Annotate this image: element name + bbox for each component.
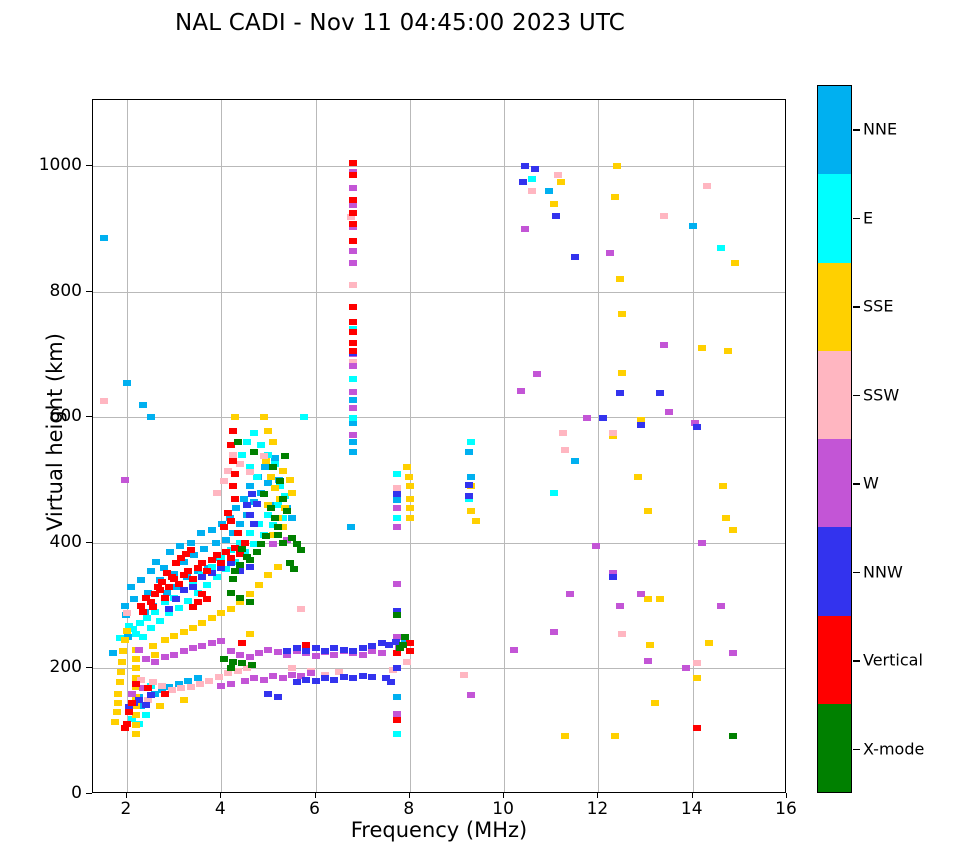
data-point [149, 604, 157, 610]
data-point [156, 703, 164, 709]
data-point [618, 311, 626, 317]
data-point [271, 515, 279, 521]
data-point [347, 524, 355, 530]
data-point [147, 568, 155, 574]
data-point [236, 521, 244, 527]
data-point [279, 496, 287, 502]
data-point [117, 669, 125, 675]
data-point [359, 673, 367, 679]
data-point [550, 629, 558, 635]
data-point [288, 490, 296, 496]
data-point [257, 541, 265, 547]
data-point [467, 508, 475, 514]
data-point [340, 647, 348, 653]
data-point [200, 546, 208, 552]
data-point [158, 683, 166, 689]
data-point [517, 388, 525, 394]
data-point [161, 654, 169, 660]
data-point [234, 668, 242, 674]
data-point [290, 566, 298, 572]
data-point [220, 656, 228, 662]
data-point [467, 474, 475, 480]
data-point [724, 348, 732, 354]
data-point [135, 647, 143, 653]
data-point [472, 518, 480, 524]
data-point [203, 582, 211, 588]
data-point [260, 453, 268, 459]
data-point [184, 568, 192, 574]
data-point [693, 660, 701, 666]
data-point [128, 691, 136, 697]
data-point [118, 659, 126, 665]
data-point [132, 731, 140, 737]
data-point [545, 188, 553, 194]
data-point [114, 700, 122, 706]
data-point [349, 160, 357, 166]
data-point [279, 540, 287, 546]
x-tick-label: 12 [587, 799, 609, 819]
data-point [123, 380, 131, 386]
data-point [248, 491, 256, 497]
data-point [147, 414, 155, 420]
data-point [243, 554, 251, 560]
colorbar-segment-e [818, 174, 851, 262]
data-point [393, 497, 401, 503]
data-point [467, 439, 475, 445]
data-point [349, 405, 357, 411]
y-tick-mark [86, 793, 92, 794]
data-point [349, 439, 357, 445]
colorbar-label-e: E [863, 208, 873, 227]
data-point [330, 677, 338, 683]
data-point [127, 584, 135, 590]
data-point [406, 648, 414, 654]
x-tick-label: 14 [681, 799, 703, 819]
data-point [240, 496, 248, 502]
data-point [151, 652, 159, 658]
data-point [571, 254, 579, 260]
data-point [253, 501, 261, 507]
data-point [307, 670, 315, 676]
data-point [170, 652, 178, 658]
data-point [149, 679, 157, 685]
data-point [519, 179, 527, 185]
data-point [177, 685, 185, 691]
data-point [293, 541, 301, 547]
data-point [227, 606, 235, 612]
data-point [255, 582, 263, 588]
data-point [698, 540, 706, 546]
data-point [229, 428, 237, 434]
data-point [262, 533, 270, 539]
data-point [698, 345, 706, 351]
x-tick-mark [597, 793, 598, 798]
data-point [340, 674, 348, 680]
data-point [276, 478, 284, 484]
data-point [260, 677, 268, 683]
data-point [719, 483, 727, 489]
data-point [203, 568, 211, 574]
data-point [393, 694, 401, 700]
data-point [561, 733, 569, 739]
data-point [300, 414, 308, 420]
data-point [269, 464, 277, 470]
data-point [227, 518, 235, 524]
data-point [349, 397, 357, 403]
data-point [349, 172, 357, 178]
data-point [349, 248, 357, 254]
data-point [168, 574, 176, 580]
data-point [203, 596, 211, 602]
data-point [406, 505, 414, 511]
data-point [349, 304, 357, 310]
data-point [168, 687, 176, 693]
x-tick-mark [315, 793, 316, 798]
data-point [264, 572, 272, 578]
data-point [293, 679, 301, 685]
colorbar-label-nne: NNE [863, 120, 897, 139]
data-point [142, 712, 150, 718]
data-point [665, 409, 673, 415]
data-point [349, 449, 357, 455]
data-point [100, 235, 108, 241]
data-point [253, 549, 261, 555]
data-point [234, 530, 242, 536]
data-point [116, 679, 124, 685]
data-point [154, 584, 162, 590]
data-point [187, 547, 195, 553]
data-point [222, 537, 230, 543]
data-point [279, 468, 287, 474]
data-point [248, 662, 256, 668]
data-point [349, 210, 357, 216]
data-point [147, 625, 155, 631]
data-point [731, 260, 739, 266]
data-point [165, 584, 173, 590]
data-point [267, 505, 275, 511]
data-point [217, 638, 225, 644]
colorbar-label-nnw: NNW [863, 562, 903, 581]
data-point [393, 717, 401, 723]
data-point [227, 648, 235, 654]
data-point [100, 398, 108, 404]
data-point [349, 648, 357, 654]
data-point [321, 648, 329, 654]
data-point [121, 477, 129, 483]
data-point [184, 678, 192, 684]
data-point [198, 574, 206, 580]
data-point [246, 512, 254, 518]
data-point [689, 223, 697, 229]
data-point [283, 648, 291, 654]
data-point [253, 474, 261, 480]
data-point [349, 432, 357, 438]
data-point [393, 524, 401, 530]
data-point [161, 637, 169, 643]
data-point [393, 612, 401, 618]
x-axis-label: Frequency (MHz) [92, 818, 786, 842]
data-point [238, 640, 246, 646]
data-point [194, 675, 202, 681]
data-point [274, 694, 282, 700]
data-point [274, 564, 282, 570]
data-point [208, 615, 216, 621]
data-point [349, 363, 357, 369]
x-tick-mark [786, 793, 787, 798]
data-point [246, 530, 254, 536]
colorbar-label-w: W [863, 474, 879, 493]
data-point [618, 631, 626, 637]
data-point [368, 643, 376, 649]
data-point [137, 603, 145, 609]
colorbar-tick [853, 395, 860, 397]
data-point [119, 648, 127, 654]
data-point [729, 650, 737, 656]
data-point [349, 340, 357, 346]
data-point [393, 505, 401, 511]
data-point [165, 606, 173, 612]
data-point [121, 603, 129, 609]
data-point [269, 673, 277, 679]
data-point [393, 665, 401, 671]
data-point [213, 552, 221, 558]
data-point [406, 515, 414, 521]
y-tick-mark [86, 165, 92, 166]
data-point [231, 568, 239, 574]
data-point [646, 642, 654, 648]
data-point [359, 645, 367, 651]
data-point [349, 348, 357, 354]
data-point [393, 711, 401, 717]
data-point [142, 702, 150, 708]
data-point [261, 464, 269, 470]
data-point [170, 633, 178, 639]
data-point [257, 442, 265, 448]
data-point [149, 643, 157, 649]
colorbar-label-sse: SSE [863, 297, 893, 316]
data-point [330, 652, 338, 658]
data-point [368, 674, 376, 680]
data-point [132, 656, 140, 662]
data-point [521, 163, 529, 169]
data-point [229, 659, 237, 665]
data-point [349, 185, 357, 191]
data-point [393, 485, 401, 491]
data-point [246, 483, 254, 489]
data-point [227, 590, 235, 596]
data-point [393, 491, 401, 497]
colorbar-segment-nne [818, 86, 851, 174]
data-point [231, 414, 239, 420]
data-point [393, 731, 401, 737]
data-point [393, 581, 401, 587]
data-point [559, 430, 567, 436]
data-point [250, 449, 258, 455]
data-point [403, 464, 411, 470]
data-point [125, 709, 133, 715]
data-point [550, 201, 558, 207]
data-point [583, 415, 591, 421]
data-point [142, 656, 150, 662]
data-point [288, 672, 296, 678]
data-point [533, 371, 541, 377]
data-point [121, 637, 129, 643]
data-point [236, 562, 244, 568]
data-point [613, 163, 621, 169]
data-point [227, 681, 235, 687]
data-point [528, 188, 536, 194]
data-point [281, 453, 289, 459]
data-point [137, 577, 145, 583]
colorbar-tick [853, 749, 860, 751]
x-tick-label: 6 [309, 799, 320, 819]
data-point [217, 683, 225, 689]
colorbar-tick [853, 218, 860, 220]
data-point [260, 414, 268, 420]
ionogram-figure: NAL CADI - Nov 11 04:45:00 2023 UTC Freq… [0, 0, 958, 857]
data-point [293, 645, 301, 651]
data-point [220, 524, 228, 530]
data-point [297, 606, 305, 612]
y-tick-mark [86, 291, 92, 292]
colorbar-label-vertical: Vertical [863, 651, 923, 670]
data-point [236, 461, 244, 467]
data-point [189, 584, 197, 590]
data-point [693, 725, 701, 731]
data-point [378, 650, 386, 656]
data-point [128, 700, 136, 706]
data-point [198, 620, 206, 626]
data-point [561, 447, 569, 453]
data-point [403, 659, 411, 665]
data-point [406, 496, 414, 502]
data-point [349, 282, 357, 288]
colorbar [817, 85, 852, 793]
x-tick-label: 10 [492, 799, 514, 819]
data-point [229, 576, 237, 582]
colorbar-segment-sse [818, 263, 851, 351]
data-point [302, 677, 310, 683]
data-point [274, 532, 282, 538]
x-tick-mark [409, 793, 410, 798]
data-point [705, 640, 713, 646]
x-tick-mark [692, 793, 693, 798]
data-point [349, 238, 357, 244]
data-point [246, 599, 254, 605]
data-point [660, 342, 668, 348]
data-point [198, 560, 206, 566]
data-point [682, 665, 690, 671]
data-point [246, 654, 254, 660]
data-point [152, 559, 160, 565]
data-point [123, 721, 131, 727]
data-point [274, 524, 282, 530]
data-point [229, 452, 237, 458]
data-point [637, 591, 645, 597]
data-point [406, 483, 414, 489]
data-point [349, 221, 357, 227]
data-point [660, 213, 668, 219]
y-axis: 02004006008001000 [0, 0, 82, 857]
data-point [644, 508, 652, 514]
y-tick-mark [86, 416, 92, 417]
data-point [729, 527, 737, 533]
data-point [321, 675, 329, 681]
data-point [703, 183, 711, 189]
data-point [393, 515, 401, 521]
x-tick-mark [503, 793, 504, 798]
data-point [139, 609, 147, 615]
data-point [197, 530, 205, 536]
data-point [246, 591, 254, 597]
data-point [232, 505, 240, 511]
data-point [656, 390, 664, 396]
data-point [236, 652, 244, 658]
data-point [271, 455, 279, 461]
data-point [465, 493, 473, 499]
data-point [302, 648, 310, 654]
data-point [557, 179, 565, 185]
data-point [406, 640, 414, 646]
data-point [229, 458, 237, 464]
data-point [111, 719, 119, 725]
data-point [571, 458, 579, 464]
data-point [609, 430, 617, 436]
colorbar-tick [853, 483, 860, 485]
data-point [147, 692, 155, 698]
data-point [312, 645, 320, 651]
data-point [312, 678, 320, 684]
data-point [175, 581, 183, 587]
x-tick-mark [126, 793, 127, 798]
chart-title: NAL CADI - Nov 11 04:45:00 2023 UTC [0, 10, 800, 36]
data-point [297, 547, 305, 553]
data-point [132, 722, 140, 728]
data-point [606, 250, 614, 256]
data-point [349, 260, 357, 266]
data-point [217, 560, 225, 566]
data-point [401, 634, 409, 640]
data-point [180, 587, 188, 593]
data-point [616, 603, 624, 609]
data-point [139, 402, 147, 408]
data-point [205, 678, 213, 684]
data-point [269, 439, 277, 445]
data-point [288, 515, 296, 521]
data-point [246, 469, 254, 475]
x-tick-label: 8 [403, 799, 414, 819]
data-point [172, 596, 180, 602]
data-point [288, 665, 296, 671]
colorbar-tick [853, 660, 860, 662]
data-point [220, 478, 228, 484]
data-point [693, 675, 701, 681]
data-point [113, 709, 121, 715]
y-tick-label: 0 [71, 783, 82, 803]
colorbar-segment-nnw [818, 527, 851, 615]
x-tick-label: 4 [215, 799, 226, 819]
data-point [279, 675, 287, 681]
data-point [132, 712, 140, 718]
colorbar-segment-vertical [818, 616, 851, 704]
data-point [187, 540, 195, 546]
data-point [399, 642, 407, 648]
data-point [465, 482, 473, 488]
data-point [592, 543, 600, 549]
data-point [330, 645, 338, 651]
data-point [189, 604, 197, 610]
data-point [528, 176, 536, 182]
